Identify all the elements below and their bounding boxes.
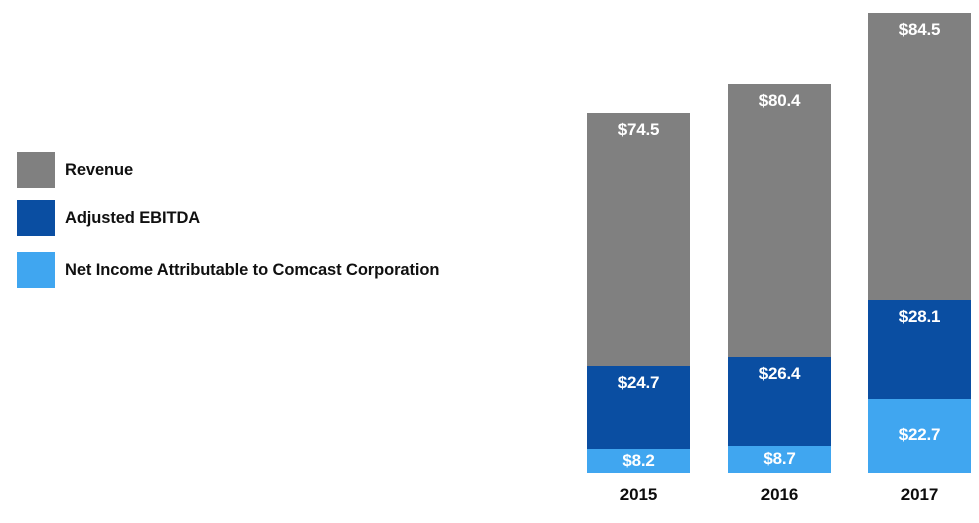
legend-item-adjusted-ebitda: Adjusted EBITDA xyxy=(17,200,200,236)
bar-value-net-income-2016: $8.7 xyxy=(728,449,831,469)
legend-swatch-adjusted-ebitda-icon xyxy=(17,200,55,236)
bar-segment-net-income-2015: $8.2 xyxy=(587,449,690,473)
legend-label-adjusted-ebitda: Adjusted EBITDA xyxy=(65,209,200,228)
x-axis-label-2017: 2017 xyxy=(868,485,971,505)
bar-value-adjusted-ebitda-2017: $28.1 xyxy=(868,307,971,327)
legend-label-net-income: Net Income Attributable to Comcast Corpo… xyxy=(65,261,439,280)
bar-segment-revenue-2017: $84.5 xyxy=(868,13,971,300)
bar-value-adjusted-ebitda-2015: $24.7 xyxy=(587,373,690,393)
x-axis-label-2015: 2015 xyxy=(587,485,690,505)
legend-swatch-revenue-icon xyxy=(17,152,55,188)
bar-segment-revenue-2015: $74.5 xyxy=(587,113,690,366)
bar-value-revenue-2017: $84.5 xyxy=(868,20,971,40)
bar-value-net-income-2017: $22.7 xyxy=(868,425,971,445)
bar-value-adjusted-ebitda-2016: $26.4 xyxy=(728,364,831,384)
bar-segment-adjusted-ebitda-2015: $24.7 xyxy=(587,366,690,449)
bar-value-revenue-2015: $74.5 xyxy=(587,120,690,140)
bar-segment-net-income-2016: $8.7 xyxy=(728,446,831,473)
legend-item-net-income: Net Income Attributable to Comcast Corpo… xyxy=(17,252,439,288)
x-axis-label-2016: 2016 xyxy=(728,485,831,505)
bar-segment-net-income-2017: $22.7 xyxy=(868,399,971,473)
stacked-bar-chart: Revenue Adjusted EBITDA Net Income Attri… xyxy=(0,0,979,523)
bar-value-revenue-2016: $80.4 xyxy=(728,91,831,111)
bar-segment-revenue-2016: $80.4 xyxy=(728,84,831,357)
legend-item-revenue: Revenue xyxy=(17,152,133,188)
bar-value-net-income-2015: $8.2 xyxy=(587,451,690,471)
legend-swatch-net-income-icon xyxy=(17,252,55,288)
bar-segment-adjusted-ebitda-2017: $28.1 xyxy=(868,300,971,399)
bar-segment-adjusted-ebitda-2016: $26.4 xyxy=(728,357,831,446)
legend-label-revenue: Revenue xyxy=(65,161,133,180)
